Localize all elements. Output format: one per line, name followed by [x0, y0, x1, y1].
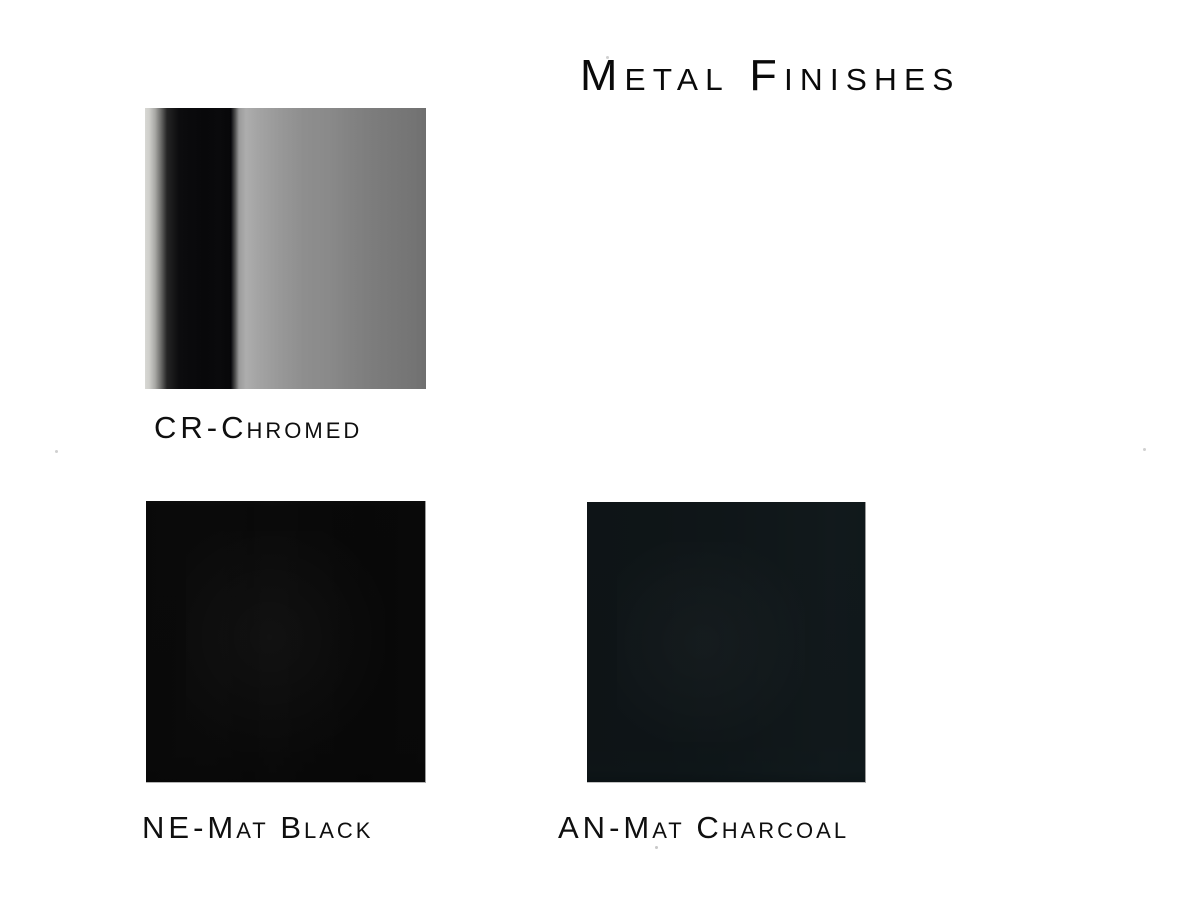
scan-speck [1143, 448, 1146, 451]
caption-mat-charcoal: AN-Mat Charcoal [558, 812, 849, 843]
finish-code-ne: NE [142, 810, 193, 845]
caption-mat-black: NE-Mat Black [142, 812, 373, 843]
finish-separator-ne: - [193, 810, 207, 845]
page-title: Metal Finishes [580, 48, 1161, 104]
charcoal-sheen-blob [617, 542, 805, 742]
swatch-chromed [145, 108, 426, 389]
finish-name-chromed: Chromed [221, 410, 362, 445]
finish-code-cr: CR [154, 410, 207, 445]
scan-speck [55, 450, 58, 453]
finish-code-an: AN [558, 810, 609, 845]
finish-separator-an: - [609, 810, 623, 845]
finish-separator-cr: - [207, 410, 221, 445]
finish-name-mat-black: Mat Black [207, 810, 373, 845]
caption-chromed: CR-Chromed [154, 412, 362, 443]
swatch-mat-charcoal [587, 502, 866, 783]
slide-canvas: Metal Finishes CR-Chromed NE-Mat Black A… [0, 0, 1200, 900]
chrome-streaks-overlay [232, 108, 426, 389]
scan-speck [655, 846, 658, 849]
black-sheen-blob [186, 531, 385, 752]
finish-name-mat-charcoal: Mat Charcoal [623, 810, 849, 845]
chrome-reflection-blob [295, 163, 415, 363]
swatch-mat-black [146, 501, 426, 783]
